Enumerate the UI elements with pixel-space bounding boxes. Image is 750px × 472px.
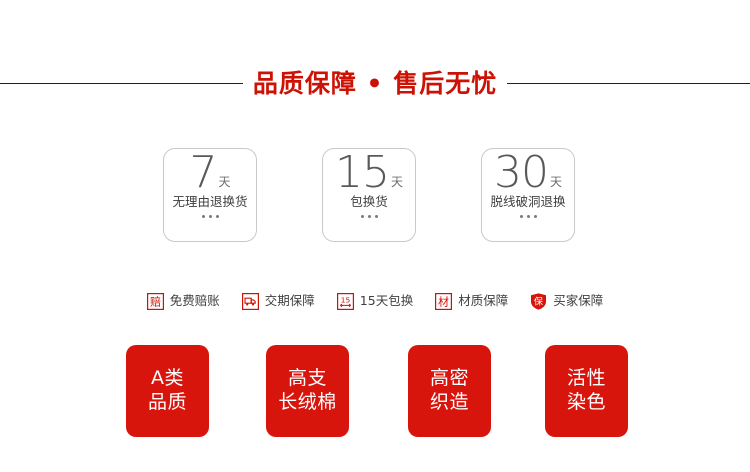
badge-15-day-exchange[interactable]: 15 15天包换 <box>337 293 413 310</box>
card-unit: 天 <box>218 176 230 188</box>
header-rule-left <box>0 83 243 84</box>
card-number-group: 7 天 <box>189 153 230 193</box>
page-title: 品质保障 • 售后无忧 <box>253 71 497 96</box>
card-number: 15 <box>335 153 389 193</box>
badge-buyer-protection[interactable]: 保 买家保障 <box>530 293 603 310</box>
card-label: 包换货 <box>350 196 388 209</box>
badge-free-compensation[interactable]: 赔 免费赔账 <box>147 293 220 310</box>
fifteen-day-square-icon: 15 <box>337 293 354 310</box>
badge-label: 15天包换 <box>360 295 413 308</box>
material-square-icon: 材 <box>435 293 452 310</box>
badge-material-guarantee[interactable]: 材 材质保障 <box>435 293 508 310</box>
feature-line-2: 长绒棉 <box>278 391 337 415</box>
delivery-truck-square-icon <box>242 293 259 310</box>
card-label: 无理由退换货 <box>172 196 247 209</box>
guarantee-card-15-day[interactable]: 15 天 包换货 <box>322 148 416 242</box>
badge-label: 交期保障 <box>265 295 315 308</box>
feature-line-1: 活性 <box>567 367 606 391</box>
card-label: 脱线破洞退换 <box>490 196 565 209</box>
svg-text:材: 材 <box>438 294 449 308</box>
svg-text:赔: 赔 <box>150 294 161 308</box>
compensation-square-icon: 赔 <box>147 293 164 310</box>
svg-text:保: 保 <box>534 295 543 307</box>
svg-text:15: 15 <box>341 295 351 304</box>
card-number: 30 <box>494 153 548 193</box>
feature-tile-high-density-weave[interactable]: 高密 织造 <box>408 345 491 437</box>
feature-tile-grade-a[interactable]: A类 品质 <box>126 345 209 437</box>
card-unit: 天 <box>391 176 403 188</box>
feature-line-1: 高支 <box>288 367 327 391</box>
card-dots-icon <box>520 215 537 218</box>
header-rule-right <box>507 83 750 84</box>
feature-tile-long-staple-cotton[interactable]: 高支 长绒棉 <box>266 345 349 437</box>
badge-delivery-guarantee[interactable]: 交期保障 <box>242 293 315 310</box>
feature-tile-reactive-dyeing[interactable]: 活性 染色 <box>545 345 628 437</box>
feature-line-2: 织造 <box>430 391 469 415</box>
service-badge-strip: 赔 免费赔账 交期保障 15 15天包换 材 材质保障 保 <box>0 290 750 312</box>
card-number-group: 15 天 <box>335 153 403 193</box>
card-number: 7 <box>189 153 216 193</box>
badge-label: 买家保障 <box>553 295 603 308</box>
badge-label: 免费赔账 <box>170 295 220 308</box>
guarantee-card-7-day[interactable]: 7 天 无理由退换货 <box>163 148 257 242</box>
buyer-shield-icon: 保 <box>530 293 547 310</box>
feature-tiles: A类 品质 高支 长绒棉 高密 织造 活性 染色 <box>126 345 628 437</box>
card-dots-icon <box>361 215 378 218</box>
card-dots-icon <box>202 215 219 218</box>
card-unit: 天 <box>550 176 562 188</box>
feature-line-1: 高密 <box>430 367 469 391</box>
feature-line-2: 染色 <box>567 391 606 415</box>
badge-label: 材质保障 <box>458 295 508 308</box>
guarantee-cards: 7 天 无理由退换货 15 天 包换货 30 天 脱线破洞退换 <box>163 148 578 244</box>
card-number-group: 30 天 <box>494 153 562 193</box>
guarantee-card-30-day[interactable]: 30 天 脱线破洞退换 <box>481 148 575 242</box>
section-header: 品质保障 • 售后无忧 <box>0 64 750 102</box>
feature-line-2: 品质 <box>148 391 187 415</box>
feature-line-1: A类 <box>151 367 184 391</box>
